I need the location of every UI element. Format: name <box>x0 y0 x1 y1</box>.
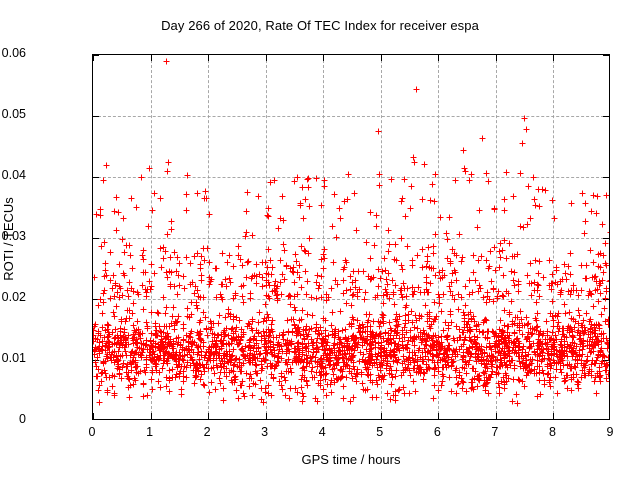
y-tick-label: 0.04 <box>0 168 26 182</box>
scatter-plot-figure: Day 266 of 2020, Rate Of TEC Index for r… <box>0 0 640 480</box>
x-tick-label: 8 <box>532 425 572 439</box>
y-tick-label: 0.05 <box>0 107 26 121</box>
x-tick-label: 2 <box>187 425 227 439</box>
plot-area <box>92 54 610 420</box>
x-tick-label: 7 <box>475 425 515 439</box>
x-tick-label: 3 <box>245 425 285 439</box>
x-axis-label: GPS time / hours <box>92 452 610 467</box>
x-tick-label: 0 <box>72 425 112 439</box>
x-tick-label: 1 <box>130 425 170 439</box>
y-tick-label: 0.02 <box>0 290 26 304</box>
y-tick-label: 0.06 <box>0 46 26 60</box>
x-tick-label: 5 <box>360 425 400 439</box>
y-tick-label: 0.03 <box>0 229 26 243</box>
y-tick-label: 0 <box>0 412 26 426</box>
x-tick-label: 4 <box>302 425 342 439</box>
page-title: Day 266 of 2020, Rate Of TEC Index for r… <box>0 18 640 33</box>
x-tick-label: 9 <box>590 425 630 439</box>
x-tick-label: 6 <box>417 425 457 439</box>
y-tick-label: 0.01 <box>0 351 26 365</box>
scatter-points <box>93 55 610 420</box>
data-point-layer <box>93 55 610 420</box>
